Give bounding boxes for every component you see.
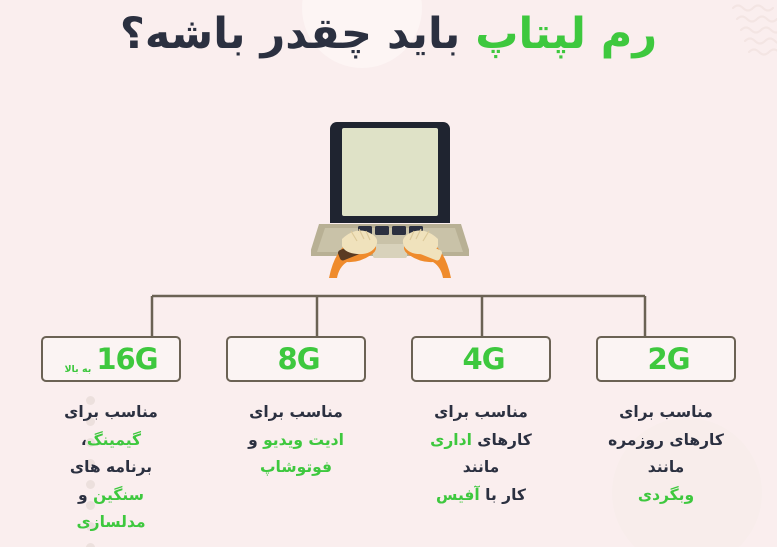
- description-text: مانند: [648, 458, 685, 476]
- ram-description-8g: مناسب برایادیت ویدیو وفوتوشاپ: [226, 399, 366, 482]
- description-text: مناسب برای: [249, 403, 343, 421]
- description-line: برنامه های: [41, 454, 181, 482]
- infographic-page: { "title": { "green_part": "رم لپتاپ", "…: [0, 0, 777, 547]
- description-line: مناسب برای: [226, 399, 366, 427]
- description-line: سنگین و: [41, 482, 181, 510]
- description-text: مناسب برای: [434, 403, 528, 421]
- highlighted-term: مدلسازی: [76, 513, 145, 531]
- ram-box-8g[interactable]: 8G: [226, 336, 366, 382]
- ram-column-4g: 4G مناسب برایکارهای اداریمانندکار با آفی…: [411, 336, 551, 537]
- ram-size-label: 2G: [648, 345, 690, 374]
- description-text: مناسب برای: [619, 403, 713, 421]
- ram-column-8g: 8G مناسب برایادیت ویدیو وفوتوشاپ: [226, 336, 366, 537]
- description-line: مدلسازی: [41, 509, 181, 537]
- laptop-illustration: [311, 118, 469, 278]
- description-line: کارهای روزمره: [596, 427, 736, 455]
- description-text: کار با: [480, 486, 526, 504]
- description-line: مناسب برای: [41, 399, 181, 427]
- ram-size-label: 16G: [96, 345, 157, 374]
- highlighted-term: فوتوشاپ: [260, 458, 332, 476]
- ram-box-2g[interactable]: 2G: [596, 336, 736, 382]
- highlighted-term: آفیس: [436, 486, 480, 504]
- ram-columns: 16G به بالا مناسب برایگیمینگ،برنامه هایس…: [0, 336, 777, 537]
- description-text: برنامه های: [70, 458, 152, 476]
- description-line: مانند: [596, 454, 736, 482]
- description-text: مناسب برای: [64, 403, 158, 421]
- page-title: رم لپتاپ باید چقدر باشه؟: [0, 8, 777, 60]
- ram-description-4g: مناسب برایکارهای اداریمانندکار با آفیس: [411, 399, 551, 509]
- description-line: کارهای اداری: [411, 427, 551, 455]
- ram-box-4g[interactable]: 4G: [411, 336, 551, 382]
- description-line: ادیت ویدیو و: [226, 427, 366, 455]
- description-line: گیمینگ،: [41, 427, 181, 455]
- ram-size-label: 8G: [278, 345, 320, 374]
- ram-description-2g: مناسب برایکارهای روزمرهمانندوبگردی: [596, 399, 736, 509]
- description-text: کارهای روزمره: [608, 431, 724, 449]
- title-green-part: رم لپتاپ: [475, 9, 657, 59]
- description-line: مانند: [411, 454, 551, 482]
- title-dark-part: باید چقدر باشه؟: [120, 9, 460, 59]
- description-text: مانند: [463, 458, 500, 476]
- description-text: و: [248, 431, 263, 449]
- highlighted-term: ادیت ویدیو: [263, 431, 344, 449]
- highlighted-term: سنگین: [93, 486, 144, 504]
- ram-column-2g: 2G مناسب برایکارهای روزمرهمانندوبگردی: [596, 336, 736, 537]
- ram-description-16g: مناسب برایگیمینگ،برنامه هایسنگین ومدلساز…: [41, 399, 181, 537]
- description-text: کارهای: [472, 431, 532, 449]
- description-line: فوتوشاپ: [226, 454, 366, 482]
- ram-box-16g[interactable]: 16G به بالا: [41, 336, 181, 382]
- description-line: مناسب برای: [411, 399, 551, 427]
- description-line: وبگردی: [596, 482, 736, 510]
- ram-size-label: 4G: [463, 345, 505, 374]
- ram-note-label: به بالا: [64, 365, 91, 381]
- description-line: کار با آفیس: [411, 482, 551, 510]
- highlighted-term: گیمینگ: [87, 431, 141, 449]
- highlighted-term: اداری: [430, 431, 472, 449]
- ram-column-16g: 16G به بالا مناسب برایگیمینگ،برنامه هایس…: [41, 336, 181, 537]
- description-text: و: [78, 486, 93, 504]
- highlighted-term: وبگردی: [638, 486, 694, 504]
- description-line: مناسب برای: [596, 399, 736, 427]
